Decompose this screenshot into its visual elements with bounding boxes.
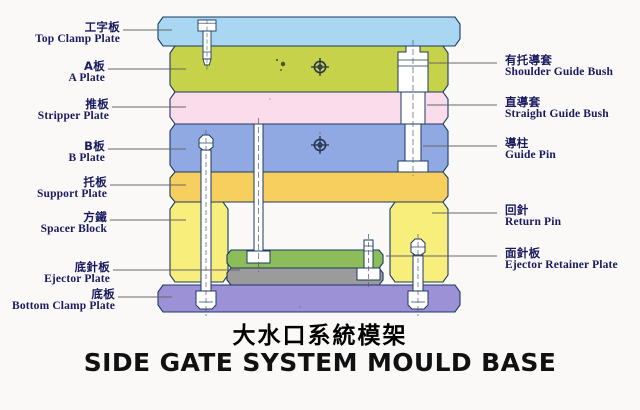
label-spacer-block-en: Spacer Block (0, 224, 107, 236)
label-stripper-plate: 推板 Stripper Plate (0, 99, 109, 123)
title-english: SIDE GATE SYSTEM MOULD BASE (0, 348, 640, 377)
label-bottom-clamp-plate: 底板 Bottom Clamp Plate (0, 289, 115, 313)
title-chinese: 大水口系統模架 (0, 316, 640, 350)
label-top-clamp-plate: 工字板 Top Clamp Plate (0, 22, 120, 46)
label-support-plate-en: Support Plate (0, 189, 107, 201)
label-straight-guide-bush-en: Straight Guide Bush (505, 109, 609, 121)
label-bottom-clamp-plate-en: Bottom Clamp Plate (0, 301, 115, 313)
label-spacer-block: 方鐵 Spacer Block (0, 212, 107, 236)
part-support-plate (170, 172, 448, 202)
label-stripper-plate-en: Stripper Plate (0, 111, 109, 123)
label-ejector-retainer-plate-en: Ejector Retainer Plate (505, 260, 618, 272)
label-ejector-plate: 底針板 Ejector Plate (0, 262, 110, 286)
label-b-plate-en: B Plate (0, 153, 105, 165)
label-support-plate: 托板 Support Plate (0, 177, 107, 201)
label-shoulder-guide-bush: 有托導套 Shoulder Guide Bush (505, 55, 613, 79)
label-shoulder-guide-bush-en: Shoulder Guide Bush (505, 67, 613, 79)
label-a-plate: A板 A Plate (0, 61, 105, 85)
label-guide-pin-en: Guide Pin (505, 150, 556, 162)
label-return-pin-en: Return Pin (505, 217, 561, 229)
label-ejector-retainer-plate: 面針板 Ejector Retainer Plate (505, 248, 618, 272)
label-straight-guide-bush: 直導套 Straight Guide Bush (505, 97, 609, 121)
label-ejector-plate-en: Ejector Plate (0, 274, 110, 286)
label-guide-pin: 導柱 Guide Pin (505, 138, 556, 162)
label-a-plate-en: A Plate (0, 73, 105, 85)
label-return-pin: 回針 Return Pin (505, 205, 561, 229)
diagram-canvas: 工字板 Top Clamp Plate A板 A Plate 推板 Stripp… (0, 0, 640, 410)
label-b-plate: B板 B Plate (0, 141, 105, 165)
label-top-clamp-plate-en: Top Clamp Plate (0, 34, 120, 46)
